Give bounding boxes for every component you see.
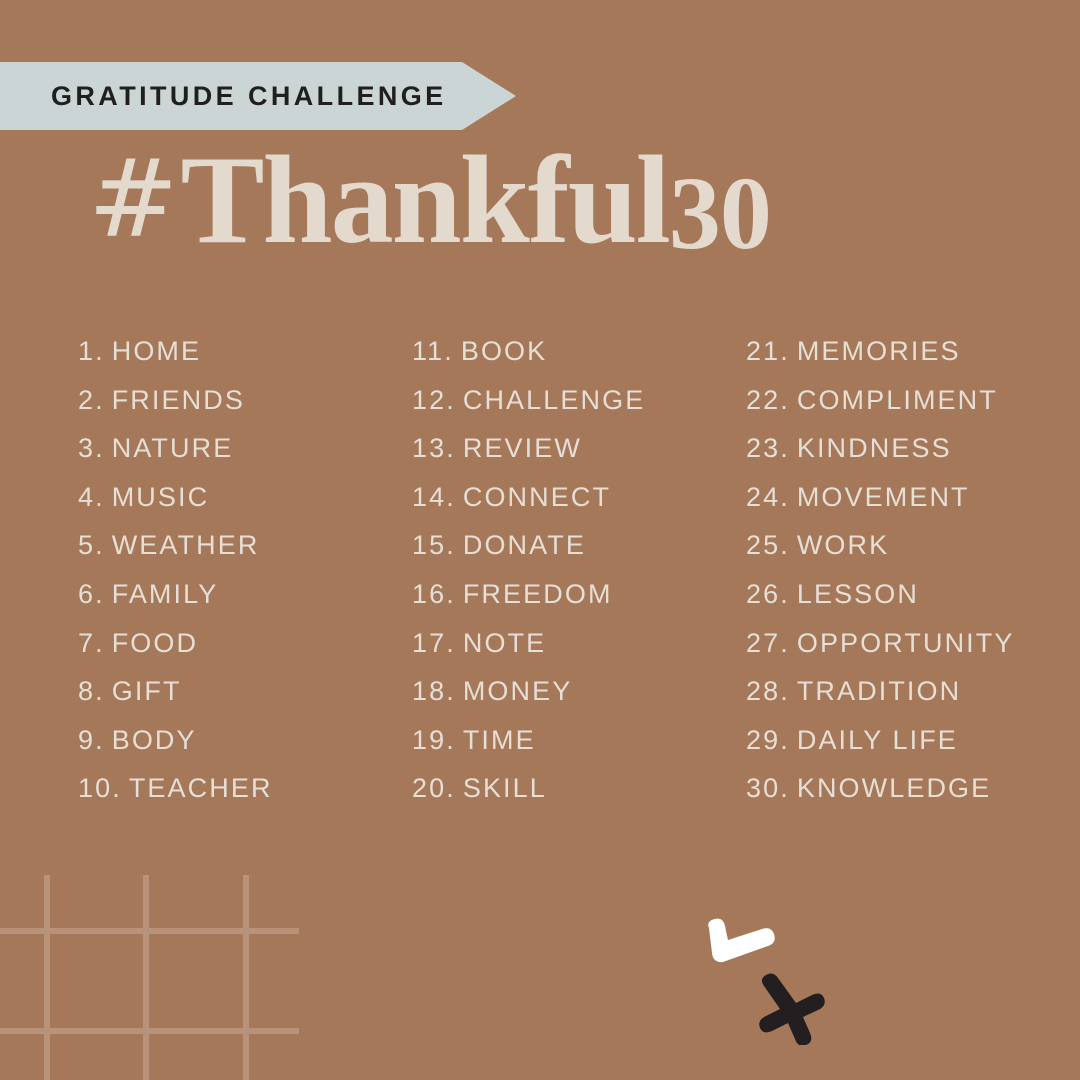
list-item: 6.FAMILY [78,570,412,619]
grid-vertical-line-3 [243,875,249,1080]
list-item: 7.FOOD [78,619,412,668]
list-item: 27.OPPORTUNITY [746,619,1038,668]
list-item: 18.MONEY [412,667,746,716]
list-item-index: 7. [78,628,105,658]
list-item-label: FREEDOM [463,579,613,609]
title-word: Thankful [181,131,669,270]
list-item: 15.DONATE [412,521,746,570]
list-item-index: 22. [746,385,790,415]
list-item-label: MUSIC [112,482,210,512]
list-item: 28.TRADITION [746,667,1038,716]
grid-lines-decoration [0,860,310,1080]
doodle-decorations [690,905,860,1045]
list-item-label: TRADITION [797,676,961,706]
list-item-index: 27. [746,628,790,658]
list-item-label: MEMORIES [797,336,961,366]
title-number: 30 [669,156,771,271]
list-item-label: TEACHER [129,773,273,803]
list-item: 21.MEMORIES [746,327,1038,376]
list-item: 30.KNOWLEDGE [746,764,1038,813]
list-item: 1.HOME [78,327,412,376]
list-item-label: OPPORTUNITY [797,628,1015,658]
list-item: 8.GIFT [78,667,412,716]
banner-label: GRATITUDE CHALLENGE [51,81,447,112]
list-item-index: 26. [746,579,790,609]
list-item-index: 3. [78,433,105,463]
title-hash: # [88,137,181,262]
list-item-label: FOOD [112,628,198,658]
banner: GRATITUDE CHALLENGE [0,62,516,130]
list-item-label: MONEY [463,676,573,706]
cross-icon [759,974,825,1045]
grid-vertical-line-2 [143,875,149,1080]
list-item: 24.MOVEMENT [746,473,1038,522]
list-item-label: LESSON [797,579,919,609]
list-column-1: 1.HOME 2.FRIENDS 3.NATURE 4.MUSIC 5.WEAT… [78,327,412,813]
list-item: 20.SKILL [412,764,746,813]
list-item-label: MOVEMENT [797,482,970,512]
list-item-index: 12. [412,385,456,415]
list-item-index: 4. [78,482,105,512]
list-item-index: 15. [412,530,456,560]
list-item-index: 18. [412,676,456,706]
list-item: 11.BOOK [412,327,746,376]
list-item-index: 16. [412,579,456,609]
list-item-index: 23. [746,433,790,463]
list-item-index: 2. [78,385,105,415]
list-item-label: NOTE [463,628,546,658]
list-column-3: 21.MEMORIES 22.COMPLIMENT 23.KINDNESS 24… [746,327,1038,813]
list-1: 1.HOME 2.FRIENDS 3.NATURE 4.MUSIC 5.WEAT… [78,327,412,813]
list-item-label: WORK [797,530,889,560]
list-column-2: 11.BOOK 12.CHALLENGE 13.REVIEW 14.CONNEC… [412,327,746,813]
list-item-label: CHALLENGE [463,385,645,415]
list-item-label: DAILY LIFE [797,725,958,755]
list-item-label: BODY [112,725,197,755]
list-item-label: TIME [463,725,536,755]
list-item: 2.FRIENDS [78,376,412,425]
list-2: 11.BOOK 12.CHALLENGE 13.REVIEW 14.CONNEC… [412,327,746,813]
list-item: 4.MUSIC [78,473,412,522]
list-item-label: NATURE [112,433,234,463]
list-item-index: 13. [412,433,456,463]
list-item-index: 21. [746,336,790,366]
list-item: 5.WEATHER [78,521,412,570]
list-item-label: REVIEW [463,433,582,463]
list-item-label: DONATE [463,530,586,560]
poster-canvas: GRATITUDE CHALLENGE #Thankful30 1.HOME 2… [0,0,1080,1080]
list-item: 23.KINDNESS [746,424,1038,473]
list-item-index: 11. [412,336,454,366]
page-title: #Thankful30 [88,133,771,269]
list-item-label: HOME [112,336,201,366]
list-item-index: 20. [412,773,456,803]
list-item-index: 17. [412,628,456,658]
list-item-index: 25. [746,530,790,560]
list-item-label: FAMILY [112,579,219,609]
list-item-index: 1. [78,336,105,366]
list-item: 14.CONNECT [412,473,746,522]
list-item-label: KINDNESS [797,433,952,463]
list-item-index: 10. [78,773,122,803]
list-item-label: CONNECT [463,482,611,512]
list-item-index: 19. [412,725,456,755]
list-item: 16.FREEDOM [412,570,746,619]
list-item-index: 30. [746,773,790,803]
list-item-label: KNOWLEDGE [797,773,991,803]
grid-vertical-line-1 [44,875,50,1080]
list-item: 26.LESSON [746,570,1038,619]
list-item: 25.WORK [746,521,1038,570]
checkmark-icon [708,919,775,962]
list-item: 12.CHALLENGE [412,376,746,425]
list-item: 29.DAILY LIFE [746,716,1038,765]
list-item: 3.NATURE [78,424,412,473]
list-item-index: 8. [78,676,105,706]
list-item-index: 29. [746,725,790,755]
list-item: 19.TIME [412,716,746,765]
list-item-label: GIFT [112,676,182,706]
list-item-index: 14. [412,482,456,512]
list-3: 21.MEMORIES 22.COMPLIMENT 23.KINDNESS 24… [746,327,1038,813]
list-item-label: FRIENDS [112,385,245,415]
challenge-list: 1.HOME 2.FRIENDS 3.NATURE 4.MUSIC 5.WEAT… [78,327,1038,813]
list-item: 22.COMPLIMENT [746,376,1038,425]
grid-horizontal-line-2 [0,1028,299,1034]
list-item: 13.REVIEW [412,424,746,473]
list-item-index: 9. [78,725,105,755]
list-item-index: 5. [78,530,105,560]
list-item-index: 28. [746,676,790,706]
list-item-index: 24. [746,482,790,512]
list-item-label: COMPLIMENT [797,385,998,415]
list-item-label: SKILL [463,773,547,803]
list-item: 17.NOTE [412,619,746,668]
list-item-index: 6. [78,579,105,609]
grid-horizontal-line-1 [0,928,299,934]
list-item: 10.TEACHER [78,764,412,813]
list-item-label: WEATHER [112,530,260,560]
list-item: 9.BODY [78,716,412,765]
list-item-label: BOOK [461,336,547,366]
